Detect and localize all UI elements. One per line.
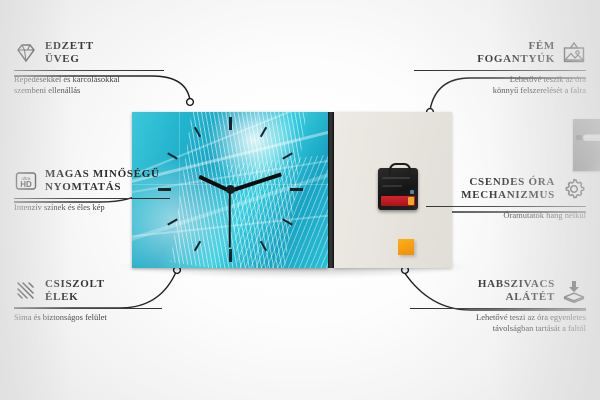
- callout-divider: [410, 308, 586, 309]
- clock-tick: [229, 117, 232, 130]
- glass-reflection-line: [179, 112, 180, 268]
- callout-title-line1: CSENDES ÓRA: [461, 176, 555, 189]
- callout-polished-edges: CSISZOLT ÉLEK Sima és biztonságos felüle…: [14, 278, 162, 323]
- callout-silent-mechanism: CSENDES ÓRA MECHANIZMUS Óramutatók hang …: [426, 176, 586, 221]
- battery-label: [381, 196, 415, 206]
- callout-description: Intenzív színek és éles kép: [14, 202, 170, 213]
- callout-title-line1: HABSZIVACS: [478, 278, 555, 291]
- svg-text:HD: HD: [20, 180, 32, 189]
- callout-description: Lehetővé teszi az óra egyenletes távolsá…: [410, 312, 586, 334]
- diamond-icon: [14, 41, 38, 65]
- callout-divider: [414, 70, 586, 71]
- callout-divider: [14, 198, 170, 199]
- connector-dot-tempered-glass: [187, 99, 194, 106]
- callout-header: EDZETT ÜVEG: [14, 40, 164, 66]
- second-hand: [229, 190, 231, 248]
- clock-tick: [229, 249, 232, 262]
- callout-title-line2: ÉLEK: [45, 291, 105, 304]
- ultra-hd-icon: ultra HD: [14, 169, 38, 193]
- glass-reflection-line: [257, 112, 258, 268]
- clock-tick: [290, 188, 303, 191]
- gear-icon: [562, 177, 586, 201]
- callout-header: ultra HD MAGAS MINŐSÉGŰ NYOMTATÁS: [14, 168, 170, 194]
- callout-description: Óramutatók hang nélkül: [426, 210, 586, 221]
- foam-spacer-pad: [398, 239, 414, 255]
- callout-title-line1: CSISZOLT: [45, 278, 105, 291]
- callout-header: CSENDES ÓRA MECHANIZMUS: [426, 176, 586, 202]
- callout-header: FÉM FOGANTYÚK: [414, 40, 586, 66]
- mechanism-ridge: [382, 185, 402, 187]
- callout-title-line2: ÜVEG: [45, 53, 94, 66]
- callout-divider: [426, 206, 586, 207]
- product-infographic: EDZETT ÜVEG Repedésekkel és karcolásokka…: [0, 0, 600, 400]
- clock-mechanism: [378, 168, 418, 210]
- callout-title-line1: MAGAS MINŐSÉGŰ: [45, 168, 160, 181]
- feather-plume-secondary: [227, 153, 328, 268]
- callout-title-line2: FOGANTYÚK: [477, 53, 555, 66]
- hanger-slot: [583, 134, 600, 141]
- mechanism-ridge: [382, 177, 410, 179]
- callout-description: Lehetővé teszik az óra könnyű felszerelé…: [414, 74, 586, 96]
- callout-high-quality-print: ultra HD MAGAS MINŐSÉGŰ NYOMTATÁS Intenz…: [14, 168, 170, 213]
- mechanism-indicator: [410, 190, 414, 194]
- callout-description: Sima és biztonságos felület: [14, 312, 162, 323]
- callout-title-line2: MECHANIZMUS: [461, 189, 555, 202]
- picture-hanger-icon: [562, 41, 586, 65]
- callout-foam-underlay: HABSZIVACS ALÁTÉT Lehetővé teszi az óra …: [410, 278, 586, 334]
- callout-title-line2: NYOMTATÁS: [45, 181, 160, 194]
- callout-divider: [14, 308, 162, 309]
- polished-edge-icon: [14, 279, 38, 303]
- wall-clock-product: [132, 112, 452, 268]
- callout-description: Repedésekkel és karcolásokkal szembeni e…: [14, 74, 164, 96]
- callout-title-line1: EDZETT: [45, 40, 94, 53]
- callout-header: CSISZOLT ÉLEK: [14, 278, 162, 304]
- mechanism-hook: [389, 163, 411, 175]
- foam-pad-arrow-icon: [562, 279, 586, 303]
- callout-metal-handles: FÉM FOGANTYÚK Lehetővé teszik az óra kön…: [414, 40, 586, 96]
- callout-title-line2: ALÁTÉT: [478, 291, 555, 304]
- callout-tempered-glass: EDZETT ÜVEG Repedésekkel és karcolásokka…: [14, 40, 164, 96]
- callout-divider: [14, 70, 164, 71]
- callout-title-line1: FÉM: [477, 40, 555, 53]
- clock-center-pin: [226, 185, 235, 194]
- metal-hanger-plate: [573, 119, 600, 171]
- callout-header: HABSZIVACS ALÁTÉT: [410, 278, 586, 304]
